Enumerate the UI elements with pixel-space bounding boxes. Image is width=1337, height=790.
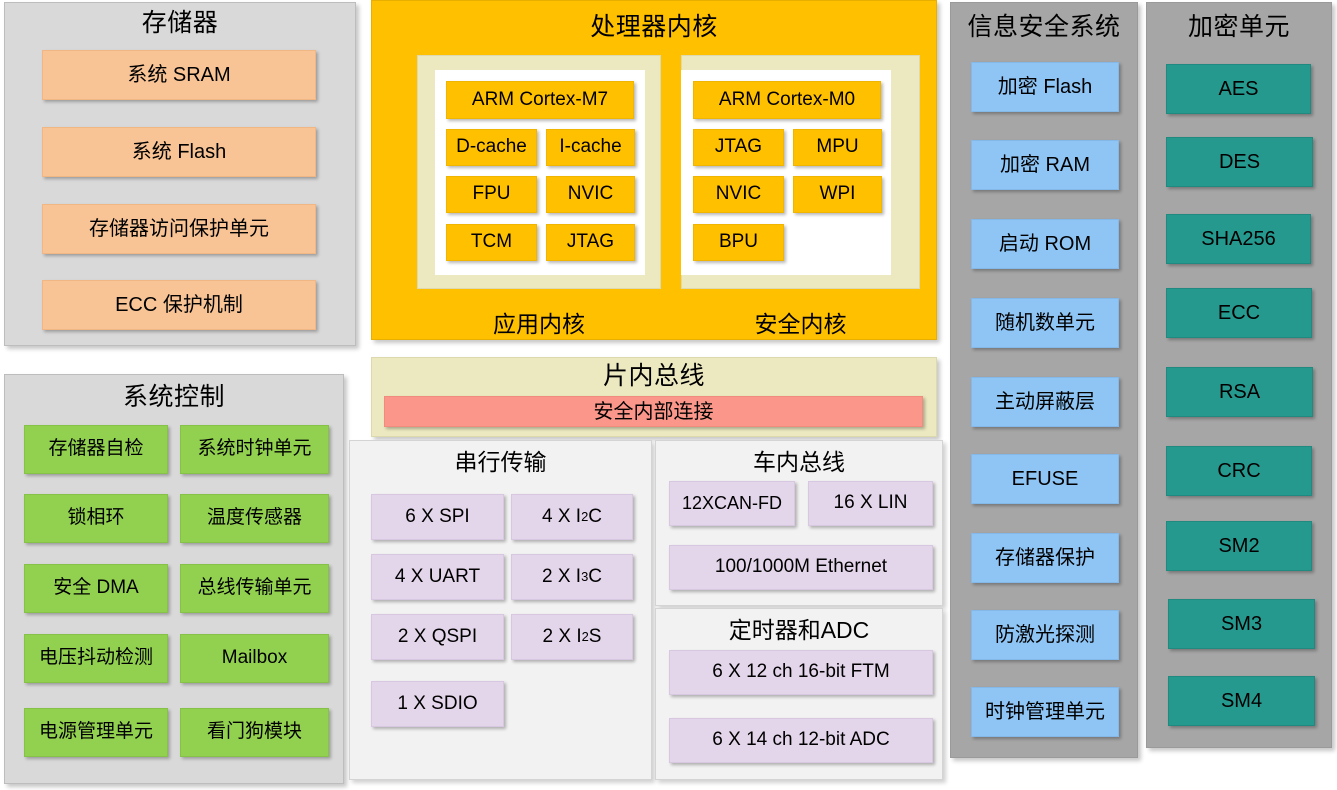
memory-panel-title: 存储器 [5,11,355,36]
app-core-block-d-cache[interactable]: D-cache [446,129,537,166]
app-core-label: 应用内核 [417,305,661,339]
sysctl-block-memory-bist[interactable]: 存储器自检 [24,425,168,474]
memory-block-access-protection-unit[interactable]: 存储器访问保护单元 [42,204,316,254]
app-core-block-tcm[interactable]: TCM [446,224,537,261]
serial-i3c-sup: 3 [581,570,588,584]
serial-i3c-text: 2 X I [542,567,581,588]
sysctl-block-mailbox[interactable]: Mailbox [180,634,329,683]
serial-block-spi[interactable]: 6 X SPI [371,494,504,540]
secure-core-block-wpi[interactable]: WPI [793,176,882,213]
crypto-block-rsa[interactable]: RSA [1166,367,1313,417]
vehicle-bus-block-can-fd[interactable]: 12XCAN-FD [669,481,795,526]
crypto-block-sha256[interactable]: SHA256 [1166,214,1311,264]
timer-adc-block-adc[interactable]: 6 X 14 ch 12-bit ADC [669,718,933,763]
crypto-block-sm2[interactable]: SM2 [1166,521,1312,571]
sysctl-block-system-clock-unit[interactable]: 系统时钟单元 [180,425,329,474]
on-chip-bus-title: 片内总线 [372,364,936,389]
serial-i2s-sup: 2 [582,630,589,644]
serial-i2c-sup: 2 [581,510,588,524]
secure-core-block-jtag[interactable]: JTAG [693,129,784,166]
serial-block-sdio[interactable]: 1 X SDIO [371,681,504,727]
security-system-panel-title: 信息安全系统 [951,15,1137,40]
security-block-rng[interactable]: 随机数单元 [971,298,1119,348]
timer-adc-block-ftm[interactable]: 6 X 12 ch 16-bit FTM [669,650,933,695]
security-block-encrypted-ram[interactable]: 加密 RAM [971,140,1119,190]
crypto-block-aes[interactable]: AES [1166,64,1311,114]
secure-core-cpu-cortex-m0[interactable]: ARM Cortex-M0 [693,81,881,119]
serial-block-i2s[interactable]: 2 X I2S [511,614,633,660]
system-control-panel-title: 系统控制 [5,385,343,410]
serial-i2s-text: 2 X I [543,627,582,648]
crypto-block-crc[interactable]: CRC [1166,446,1312,496]
serial-block-uart[interactable]: 4 X UART [371,554,504,600]
on-chip-bus-secure-interconnect[interactable]: 安全内部连接 [384,396,923,427]
security-block-active-shield[interactable]: 主动屏蔽层 [971,377,1119,427]
security-block-encrypted-flash[interactable]: 加密 Flash [971,62,1119,112]
serial-panel: 串行传输 [349,440,652,780]
crypto-block-ecc[interactable]: ECC [1166,288,1312,338]
crypto-unit-panel-title: 加密单元 [1147,15,1331,40]
processor-core-panel-title: 处理器内核 [372,15,936,40]
serial-i2c-text: 4 X I [542,507,581,528]
security-block-memory-protection[interactable]: 存储器保护 [971,533,1119,583]
security-block-efuse[interactable]: EFUSE [971,454,1119,504]
serial-block-i2c[interactable]: 4 X I2C [511,494,633,540]
sysctl-block-voltage-glitch-detect[interactable]: 电压抖动检测 [24,634,168,683]
serial-i2s-tail: S [589,627,602,648]
crypto-block-sm3[interactable]: SM3 [1168,599,1315,649]
vehicle-bus-block-ethernet[interactable]: 100/1000M Ethernet [669,545,933,590]
timer-adc-panel-title: 定时器和ADC [656,619,942,642]
sysctl-block-secure-dma[interactable]: 安全 DMA [24,564,168,613]
secure-core-block-bpu[interactable]: BPU [693,224,784,261]
memory-block-flash[interactable]: 系统 Flash [42,127,316,177]
memory-block-ecc[interactable]: ECC 保护机制 [42,280,316,330]
sysctl-block-watchdog[interactable]: 看门狗模块 [180,708,329,757]
secure-core-block-mpu[interactable]: MPU [793,129,882,166]
app-core-block-jtag[interactable]: JTAG [546,224,635,261]
vehicle-bus-panel-title: 车内总线 [656,451,942,474]
memory-block-sram[interactable]: 系统 SRAM [42,50,316,100]
serial-block-i3c[interactable]: 2 X I3C [511,554,633,600]
security-block-clock-management-unit[interactable]: 时钟管理单元 [971,687,1119,737]
vehicle-bus-block-lin[interactable]: 16 X LIN [808,481,933,526]
serial-i2c-tail: C [588,507,602,528]
serial-i3c-tail: C [588,567,602,588]
security-block-anti-laser-detect[interactable]: 防激光探测 [971,610,1119,660]
serial-block-qspi[interactable]: 2 X QSPI [371,614,504,660]
crypto-block-des[interactable]: DES [1166,137,1313,187]
app-core-block-i-cache[interactable]: I-cache [546,129,635,166]
secure-core-label: 安全内核 [681,305,920,339]
app-core-block-nvic[interactable]: NVIC [546,176,635,213]
app-core-block-fpu[interactable]: FPU [446,176,537,213]
app-core-cpu-cortex-m7[interactable]: ARM Cortex-M7 [446,81,634,119]
sysctl-block-bus-transfer-unit[interactable]: 总线传输单元 [180,564,329,613]
sysctl-block-temperature-sensor[interactable]: 温度传感器 [180,494,329,543]
sysctl-block-power-management-unit[interactable]: 电源管理单元 [24,708,168,757]
secure-core-block-nvic[interactable]: NVIC [693,176,784,213]
soc-block-diagram: 存储器 系统 SRAM 系统 Flash 存储器访问保护单元 ECC 保护机制 … [0,0,1337,790]
sysctl-block-pll[interactable]: 锁相环 [24,494,168,543]
security-block-boot-rom[interactable]: 启动 ROM [971,219,1119,269]
crypto-block-sm4[interactable]: SM4 [1168,676,1315,726]
serial-panel-title: 串行传输 [350,451,651,474]
